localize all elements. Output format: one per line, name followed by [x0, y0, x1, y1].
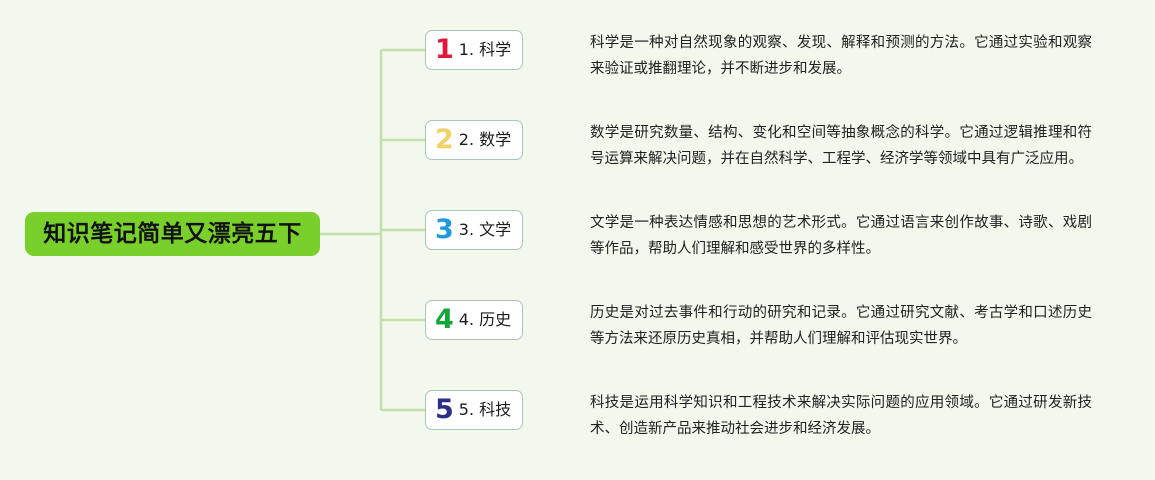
- topic-label-1: 1. 科学: [459, 42, 511, 58]
- topic-number-4: 4: [435, 306, 454, 333]
- topic-description-2: 数学是研究数量、结构、变化和空间等抽象概念的科学。它通过逻辑推理和符号运算来解决…: [590, 120, 1092, 172]
- topic-description-1: 科学是一种对自然现象的观察、发现、解释和预测的方法。它通过实验和观察来验证或推翻…: [590, 30, 1092, 82]
- topic-label-3: 3. 文学: [459, 222, 511, 238]
- branch-row: 2 2. 数学 数学是研究数量、结构、变化和空间等抽象概念的科学。它通过逻辑推理…: [0, 120, 1155, 210]
- topic-node-3[interactable]: 3 3. 文学: [425, 210, 523, 250]
- topic-number-2: 2: [435, 126, 454, 153]
- branch-row: 1 1. 科学 科学是一种对自然现象的观察、发现、解释和预测的方法。它通过实验和…: [0, 30, 1155, 120]
- topic-node-1[interactable]: 1 1. 科学: [425, 30, 523, 70]
- topic-description-5: 科技是运用科学知识和工程技术来解决实际问题的应用领域。它通过研发新技术、创造新产…: [590, 390, 1092, 442]
- branch-row: 5 5. 科技 科技是运用科学知识和工程技术来解决实际问题的应用领域。它通过研发…: [0, 390, 1155, 480]
- topic-node-2[interactable]: 2 2. 数学: [425, 120, 523, 160]
- topic-number-1: 1: [435, 36, 454, 63]
- topic-number-5: 5: [435, 396, 454, 423]
- topic-description-3: 文学是一种表达情感和思想的艺术形式。它通过语言来创作故事、诗歌、戏剧等作品，帮助…: [590, 210, 1092, 262]
- topic-label-4: 4. 历史: [459, 312, 511, 328]
- topic-number-3: 3: [435, 216, 454, 243]
- topic-node-4[interactable]: 4 4. 历史: [425, 300, 523, 340]
- topic-node-5[interactable]: 5 5. 科技: [425, 390, 523, 430]
- mindmap-canvas: 知识笔记简单又漂亮五下 1 1. 科学 科学是一种对自然现象的观察、发现、解释和…: [0, 0, 1155, 460]
- topic-label-5: 5. 科技: [459, 402, 511, 418]
- branch-row: 4 4. 历史 历史是对过去事件和行动的研究和记录。它通过研究文献、考古学和口述…: [0, 300, 1155, 390]
- topic-label-2: 2. 数学: [459, 132, 511, 148]
- branch-row: 3 3. 文学 文学是一种表达情感和思想的艺术形式。它通过语言来创作故事、诗歌、…: [0, 210, 1155, 300]
- topic-description-4: 历史是对过去事件和行动的研究和记录。它通过研究文献、考古学和口述历史等方法来还原…: [590, 300, 1092, 352]
